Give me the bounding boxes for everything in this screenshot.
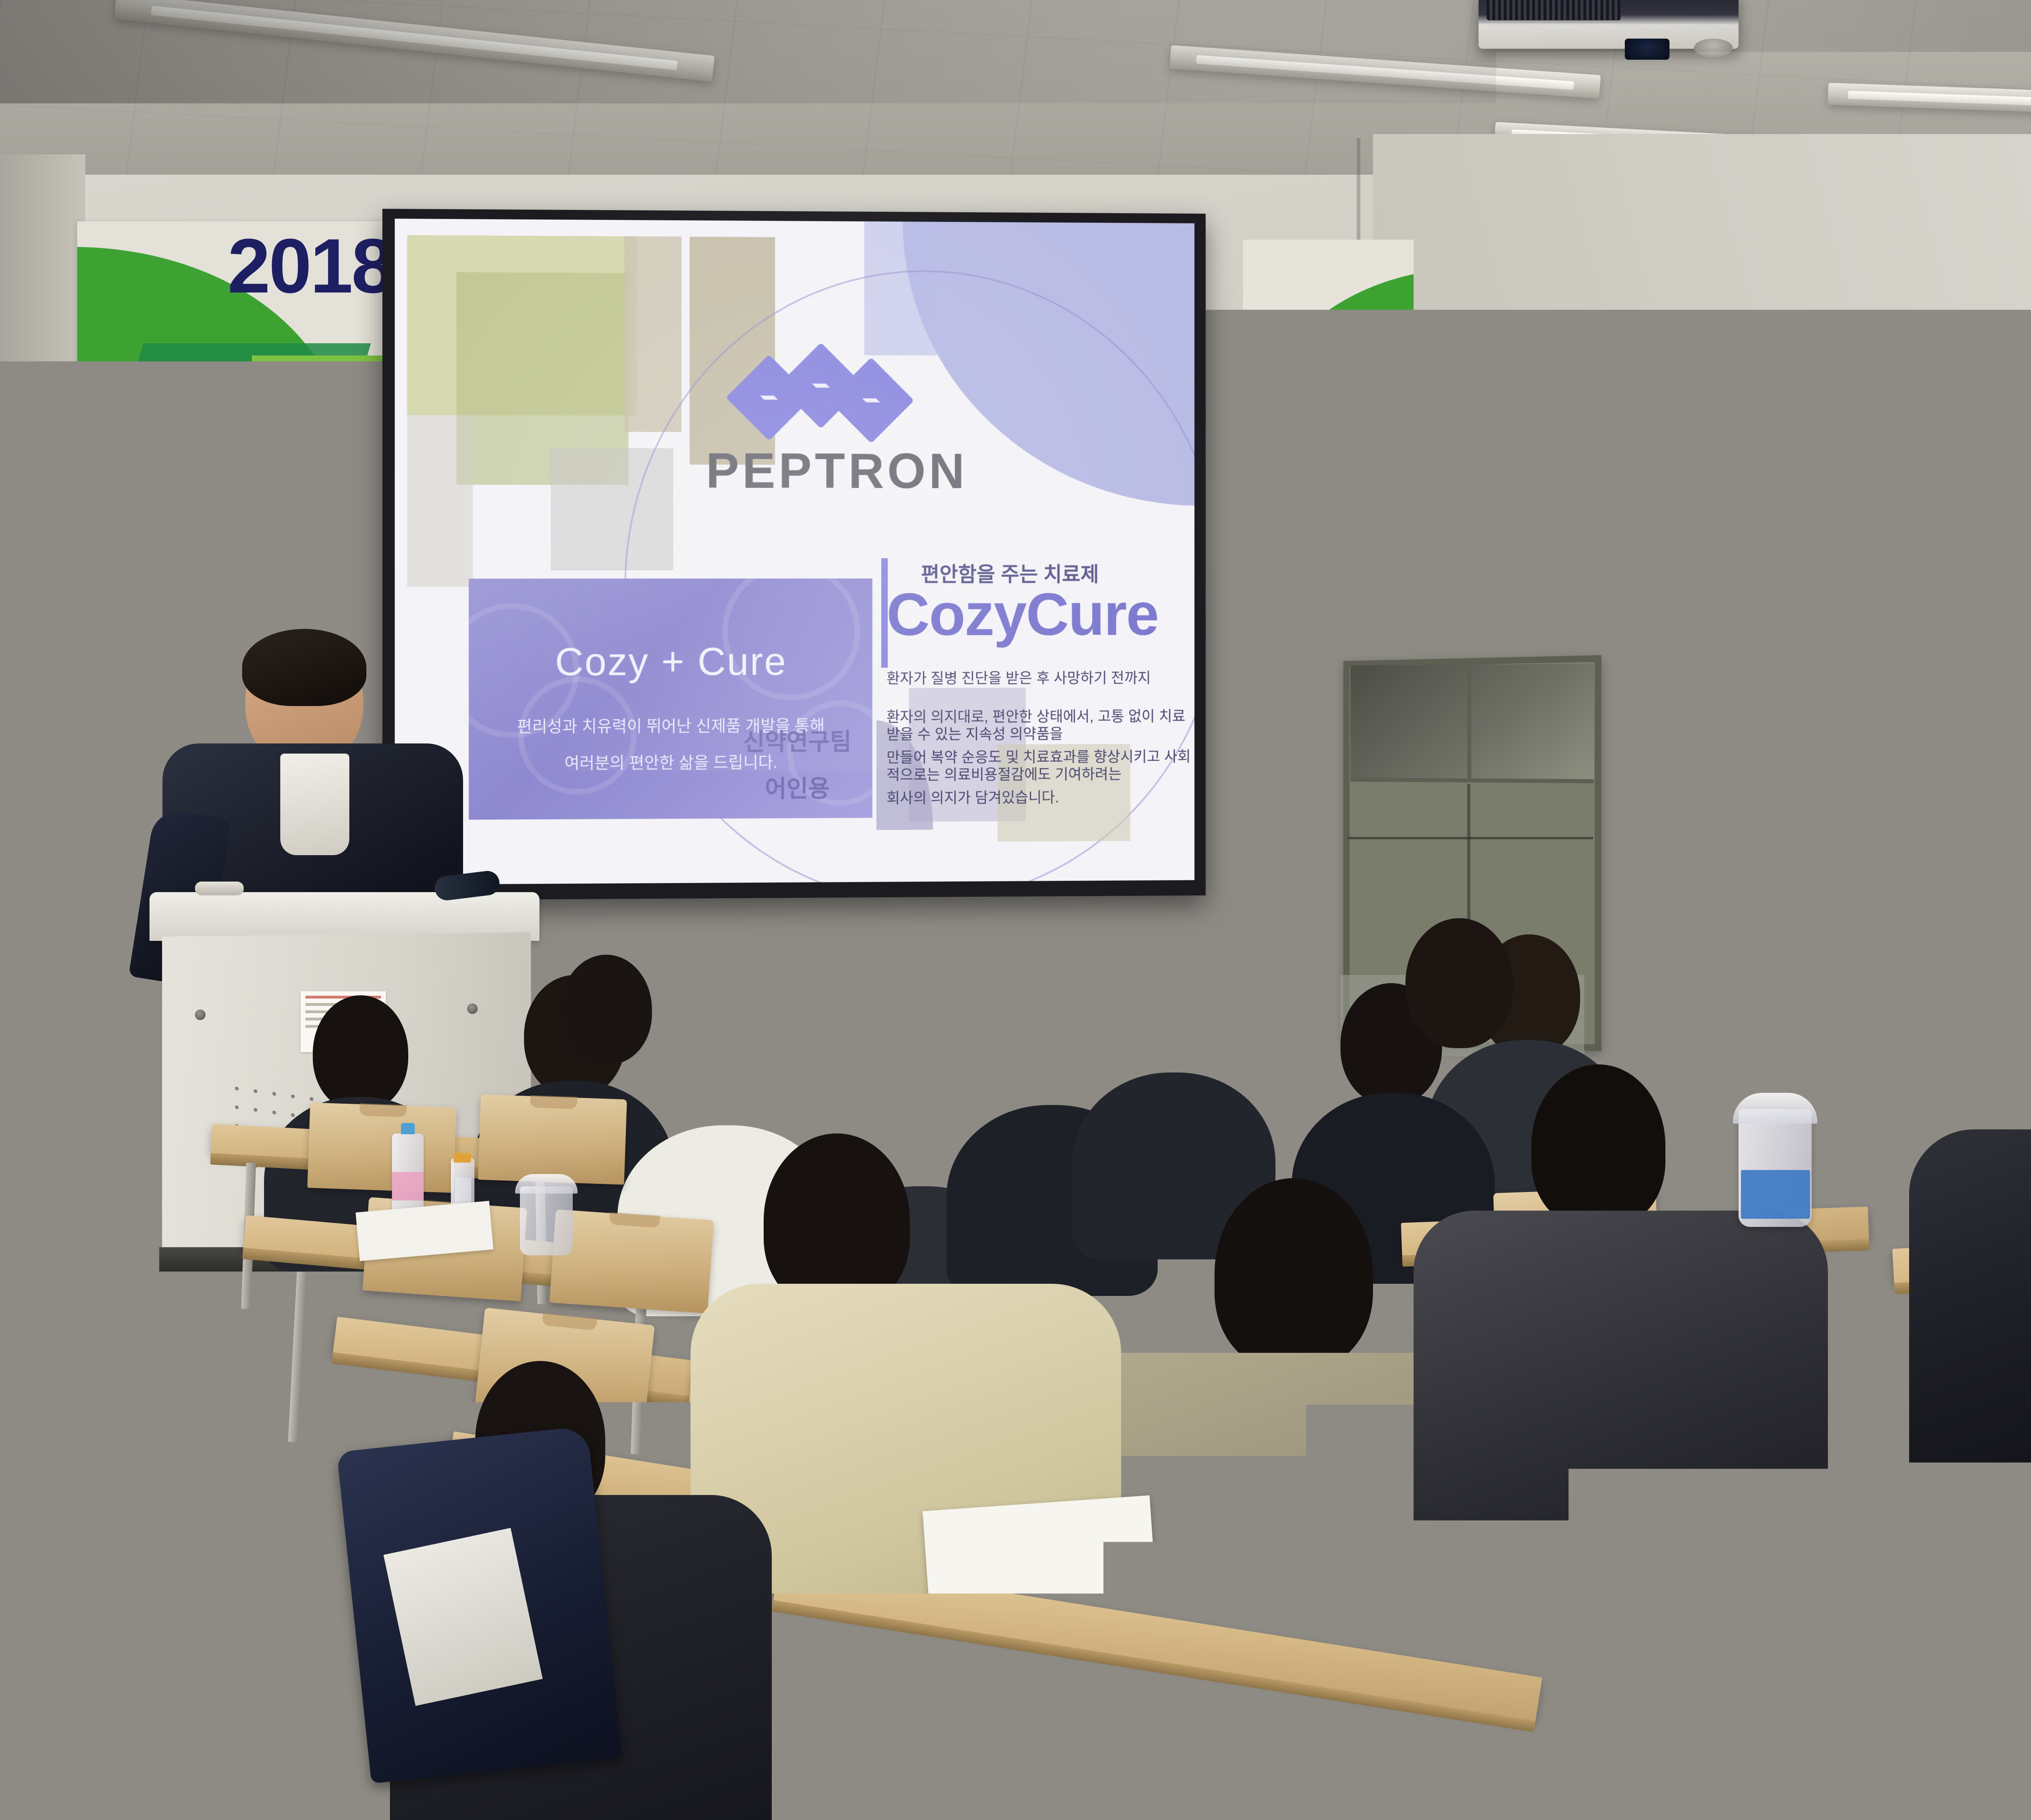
whiteboard	[1192, 506, 1286, 843]
water-bottle[interactable]	[392, 1133, 424, 1217]
sprinkler-head	[1694, 39, 1733, 57]
electrical-panel[interactable]	[2025, 707, 2031, 902]
projection-screen-frame: PEPTRON Cozy + Cure 편리성과 치유력이 뛰어난 신제품 개발…	[382, 209, 1206, 900]
presentation-slide: PEPTRON Cozy + Cure 편리성과 치유력이 뛰어난 신제품 개발…	[395, 219, 1195, 884]
audience-glasses-icon	[2019, 1072, 2031, 1086]
control-switch[interactable]	[1934, 756, 1947, 778]
audience-head	[1531, 1064, 1665, 1227]
door-handle[interactable]	[1631, 849, 1650, 867]
lecture-hall-photo: 2018 주최	[0, 0, 2031, 1820]
screen-pull-knob[interactable]	[1170, 884, 1192, 898]
slide-team-name: 신약연구팀	[395, 721, 1195, 758]
bottle-cap	[823, 1034, 841, 1044]
audience-head	[561, 955, 652, 1064]
cozycure-brand-name: CozyCure	[887, 581, 1158, 650]
audience-head	[674, 1007, 784, 1142]
bottle-cap	[453, 1153, 471, 1163]
event-banner-right	[1243, 240, 1414, 422]
fire-safety-sign	[1936, 841, 1970, 882]
podium-clip	[195, 882, 244, 895]
banner-year-text: 2018	[227, 227, 393, 305]
seat-back[interactable]	[307, 1103, 456, 1193]
cozy-cure-card-title: Cozy + Cure	[469, 639, 873, 685]
podium-grommet	[195, 1010, 206, 1020]
audience-head	[313, 995, 408, 1111]
projector-vent-grille	[1487, 0, 1621, 20]
audience-head	[1215, 1178, 1373, 1369]
seat-back[interactable]	[549, 1209, 714, 1314]
control-switch[interactable]	[1958, 756, 1972, 778]
red-chair-back[interactable]	[0, 955, 93, 1117]
partition-mullion	[1467, 665, 1471, 782]
partition-panel-seam	[1348, 837, 1593, 839]
drink-bottle[interactable]	[821, 1040, 843, 1089]
transom-window	[1464, 504, 1834, 585]
banner-host-label: 주최	[284, 374, 331, 410]
audience-body	[1414, 1211, 1828, 1576]
audience-head	[999, 991, 1105, 1121]
control-indicator	[1950, 784, 1960, 795]
peptron-wordmark: PEPTRON	[706, 442, 968, 500]
door-seam	[1655, 585, 1657, 1048]
audience-head	[764, 1133, 910, 1308]
partition-glass-window	[1350, 664, 1594, 783]
audience-head	[1121, 963, 1223, 1087]
presenter-hair	[242, 629, 366, 706]
projector-lens	[1625, 39, 1669, 60]
paper-handouts[interactable]	[922, 1495, 1157, 1621]
audience-body	[1909, 1129, 2031, 1462]
plastic-cup[interactable]	[520, 1186, 573, 1255]
slide-presenter-name: 어인용	[395, 768, 1195, 805]
presenter-shirt-collar	[280, 754, 349, 855]
projection-screen: PEPTRON Cozy + Cure 편리성과 치유력이 뛰어난 신제품 개발…	[395, 219, 1195, 884]
fire-extinguisher	[1927, 894, 1960, 975]
audience-head	[1799, 886, 1887, 989]
audience-head	[1897, 975, 1999, 1097]
door-handle[interactable]	[1661, 847, 1681, 865]
water-bottle[interactable]	[784, 1012, 813, 1089]
audience-head	[1405, 918, 1513, 1048]
cozycure-body-line: 환자가 질병 진단을 받은 후 사망하기 전까지	[887, 669, 1151, 687]
seat-back[interactable]	[478, 1094, 627, 1185]
cup-label	[1741, 1170, 1810, 1219]
podium-grommet	[467, 1003, 478, 1014]
